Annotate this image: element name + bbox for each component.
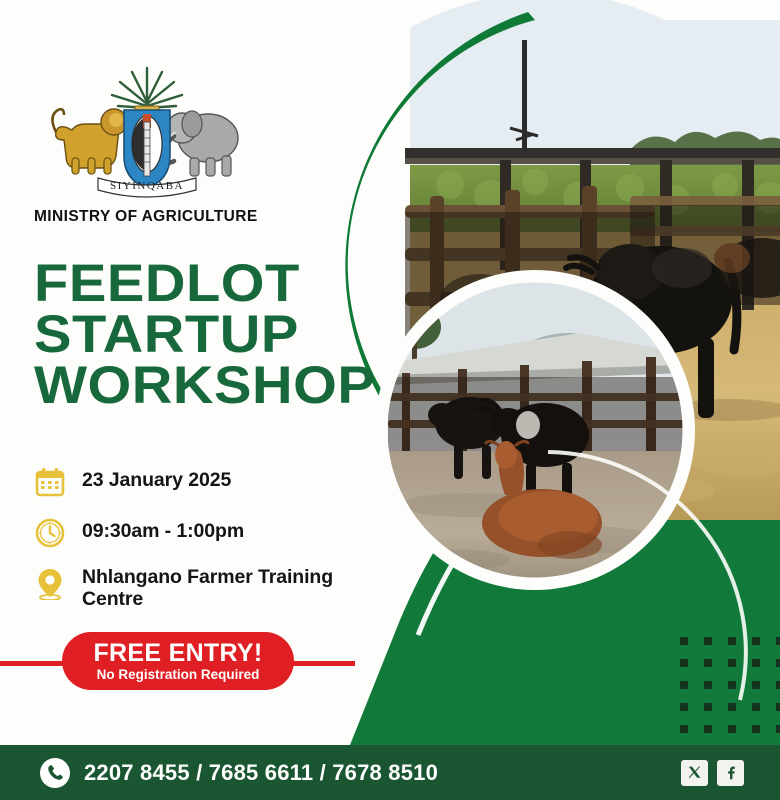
motto-banner: SIYINQABA [98,178,196,197]
event-details: 23 January 2025 09:30am - 1:00pm [30,462,390,621]
page-title: FEEDLOT STARTUP WORKSHOP [34,258,374,411]
ministry-branding: SIYINQABA MINISTRY OF AGRICULTURE [34,62,284,226]
left-content-column: SIYINQABA MINISTRY OF AGRICULTURE FEEDLO… [0,0,400,745]
event-venue: Nhlangano Farmer Training Centre [82,564,390,610]
contact-footer: 2207 8455 / 7685 6611 / 7678 8510 [0,745,780,800]
detail-row-venue: Nhlangano Farmer Training Centre [30,564,390,610]
location-pin-icon [30,564,70,604]
motto-text: SIYINQABA [110,180,184,192]
shield [124,110,170,188]
title-line-3: WORKSHOP [34,360,394,411]
elephant-supporter [162,111,238,176]
social-links [681,760,744,786]
x-twitter-icon[interactable] [681,760,708,786]
poster-canvas: SIYINQABA MINISTRY OF AGRICULTURE FEEDLO… [0,0,780,800]
free-entry-badge: FREE ENTRY! No Registration Required [0,632,400,694]
phone-numbers: 2207 8455 / 7685 6611 / 7678 8510 [84,760,438,786]
eswatini-coat-of-arms-icon: SIYINQABA [42,62,252,202]
calendar-icon [30,462,70,502]
title-line-2: STARTUP [34,309,394,360]
ministry-name: MINISTRY OF AGRICULTURE [34,208,284,226]
lion-supporter [52,109,127,174]
event-date: 23 January 2025 [82,462,231,491]
event-time: 09:30am - 1:00pm [82,513,244,542]
title-line-1: FEEDLOT [34,258,394,309]
free-entry-headline: FREE ENTRY! [93,641,262,666]
free-entry-subtext: No Registration Required [97,667,260,682]
detail-row-time: 09:30am - 1:00pm [30,513,390,553]
phone-icon [40,758,70,788]
free-entry-pill: FREE ENTRY! No Registration Required [62,632,294,690]
clock-icon [30,513,70,553]
detail-row-date: 23 January 2025 [30,462,390,502]
facebook-icon[interactable] [717,760,744,786]
feedlot-cattle-resting-photo-frame [375,270,695,590]
